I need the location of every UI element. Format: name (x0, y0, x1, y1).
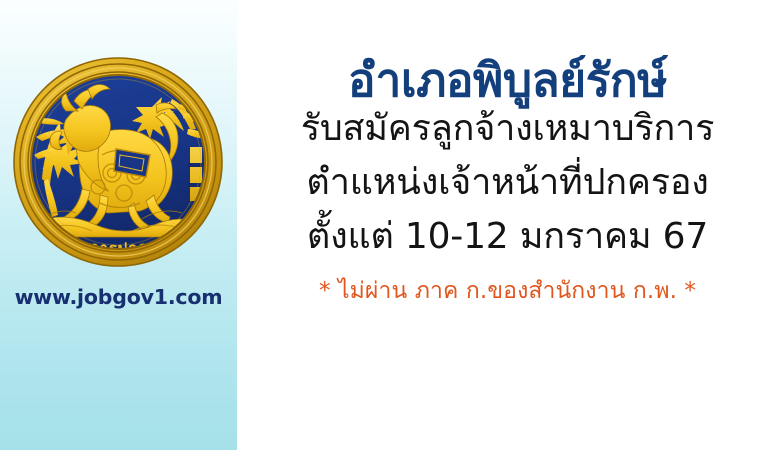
seal-graphic: กรมการปกครอง (12, 51, 224, 273)
website-url: www.jobgov1.com (0, 285, 237, 309)
announcement-text-block: อำเภอพิบูลย์รักษ์ รับสมัครลูกจ้างเหมาบริ… (245, 57, 770, 304)
right-content-panel: อำเภอพิบูลย์รักษ์ รับสมัครลูกจ้างเหมาบริ… (237, 0, 770, 450)
headline-office-name: อำเภอพิบูลย์รักษ์ (245, 57, 770, 111)
announcement-line-position: ตำแหน่งเจ้าหน้าที่ปกครอง (245, 165, 770, 219)
job-announcement-poster: กรมการปกครอง www.jobgov1.com อำเภอพิบูลย… (0, 0, 770, 450)
announcement-line-recruitment: รับสมัครลูกจ้างเหมาบริการ (245, 111, 770, 165)
announcement-note-exam-exemption: * ไม่ผ่าน ภาค ก.ของสำนักงาน ก.พ. * (245, 279, 770, 304)
department-seal: กรมการปกครอง (12, 51, 224, 273)
announcement-line-dates: ตั้งแต่ 10-12 มกราคม 67 (245, 219, 770, 273)
left-branding-panel: กรมการปกครอง www.jobgov1.com (0, 0, 237, 450)
